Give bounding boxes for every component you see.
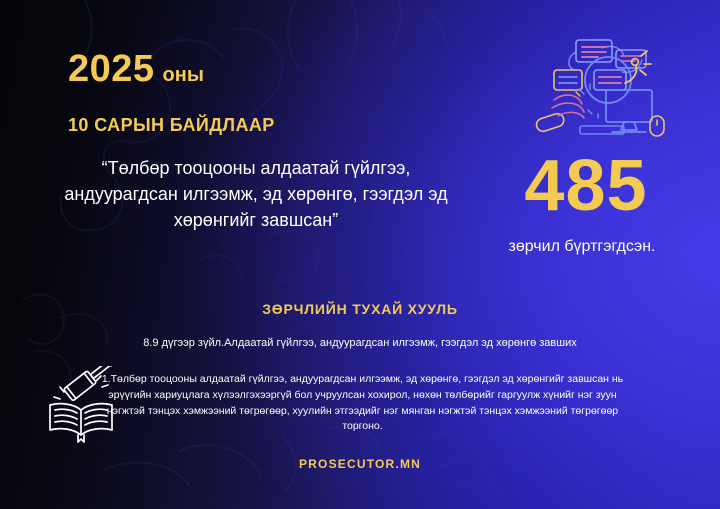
law-article-text: 8.9 дүгээр зүйл.Алдаатай гүйлгээ, андуур…: [60, 336, 660, 351]
year-suffix-label: оны: [163, 64, 204, 86]
period-heading: 10 САРЫН БАЙДЛААР: [68, 115, 275, 136]
year-number: 2025: [68, 48, 155, 90]
stat-label: зөрчил бүртгэгдсэн.: [450, 238, 714, 256]
law-title: ЗӨРЧЛИЙН ТУХАЙ ХУУЛЬ: [0, 301, 720, 317]
quote-text: “Төлбөр тооцооны алдаатай гүйлгээ, андуу…: [50, 155, 462, 233]
stat-value: 485: [462, 150, 710, 222]
computer-search-illustration-icon: [524, 28, 674, 140]
infographic-poster: 2025оны 10 САРЫН БАЙДЛААР “Төлбөр тооцоо…: [0, 0, 720, 509]
law-body-text: 1.Төлбөр тооцооны алдаатай гүйлгээ, анду…: [90, 372, 635, 435]
gavel-book-icon: [38, 366, 124, 444]
footer-website: PROSECUTOR.MN: [0, 457, 720, 471]
year-heading: 2025оны: [68, 48, 204, 91]
